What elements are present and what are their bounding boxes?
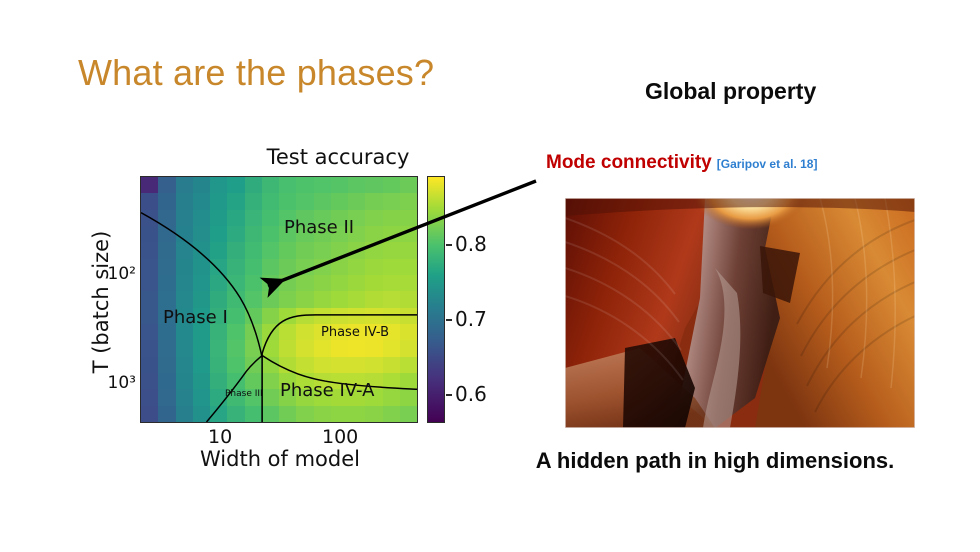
- heatmap-cell: [210, 340, 227, 356]
- heatmap-cell: [141, 226, 158, 242]
- heatmap-cell: [279, 324, 296, 340]
- heatmap-cell: [383, 177, 400, 193]
- heatmap-cell: [383, 259, 400, 275]
- heatmap-cell: [296, 406, 313, 422]
- heatmap-cell: [365, 291, 382, 307]
- heatmap-cell: [365, 357, 382, 373]
- colorbar: 0.8 0.7 0.6: [427, 176, 445, 423]
- region-label-phase-3: Phase III: [225, 389, 263, 399]
- heatmap-cell: [400, 210, 417, 226]
- heatmap-cell: [227, 242, 244, 258]
- heatmap-cell: [296, 340, 313, 356]
- heatmap-cell: [348, 308, 365, 324]
- heatmap-cell: [158, 242, 175, 258]
- heatmap-cell: [227, 193, 244, 209]
- heatmap-cell: [296, 308, 313, 324]
- heatmap-cell: [245, 226, 262, 242]
- heatmap-cell: [296, 242, 313, 258]
- heatmap-cell: [365, 226, 382, 242]
- heatmap-cell: [245, 357, 262, 373]
- citation-reference: [Garipov et al. 18]: [717, 157, 818, 171]
- heatmap-cell: [262, 357, 279, 373]
- heatmap-cell: [245, 291, 262, 307]
- global-property-heading: Global property: [645, 78, 816, 105]
- heatmap-cell: [210, 259, 227, 275]
- heatmap-cell: [262, 373, 279, 389]
- heatmap-cell: [176, 406, 193, 422]
- heatmap-cell: [227, 291, 244, 307]
- heatmap-cell: [262, 177, 279, 193]
- x-tick-100: 100: [322, 426, 358, 448]
- heatmap-cell: [176, 193, 193, 209]
- mode-connectivity-label: Mode connectivity: [546, 152, 712, 173]
- heatmap-cell: [331, 406, 348, 422]
- heatmap-cell: [400, 193, 417, 209]
- heatmap-cell: [262, 193, 279, 209]
- colorbar-gradient: [427, 176, 445, 423]
- heatmap-cell: [296, 177, 313, 193]
- heatmap-cell: [383, 291, 400, 307]
- heatmap-cell: [296, 193, 313, 209]
- colorbar-label-06: 0.6: [455, 382, 487, 406]
- heatmap-cell: [365, 340, 382, 356]
- page-title: What are the phases?: [78, 52, 434, 94]
- heatmap-cell: [176, 259, 193, 275]
- heatmap-cell: [314, 308, 331, 324]
- heatmap-cell: [141, 340, 158, 356]
- heatmap-cell: [227, 275, 244, 291]
- heatmap-cell: [296, 324, 313, 340]
- heatmap-cell: [210, 291, 227, 307]
- heatmap-cell: [400, 177, 417, 193]
- heatmap-cell: [245, 308, 262, 324]
- heatmap-cell: [279, 242, 296, 258]
- heatmap-cell: [141, 210, 158, 226]
- heatmap-cell: [227, 406, 244, 422]
- heatmap-cell: [400, 389, 417, 405]
- heatmap-cell: [262, 210, 279, 226]
- heatmap-cell: [141, 389, 158, 405]
- heatmap-cell: [227, 324, 244, 340]
- heatmap-cells: [141, 177, 417, 422]
- colorbar-label-08: 0.8: [455, 232, 487, 256]
- heatmap-cell: [279, 308, 296, 324]
- canyon-photo-art: [565, 198, 915, 428]
- heatmap-cell: [193, 177, 210, 193]
- heatmap-cell: [400, 291, 417, 307]
- heatmap-cell: [141, 324, 158, 340]
- heatmap-cell: [193, 291, 210, 307]
- heatmap-cell: [176, 275, 193, 291]
- heatmap-cell: [348, 357, 365, 373]
- heatmap-cell: [279, 259, 296, 275]
- heatmap-cell: [176, 177, 193, 193]
- heatmap-cell: [141, 406, 158, 422]
- heatmap-cell: [365, 193, 382, 209]
- heatmap-cell: [262, 242, 279, 258]
- heatmap-cell: [400, 373, 417, 389]
- colorbar-tick-08: [446, 244, 452, 246]
- heatmap-cell: [383, 226, 400, 242]
- colorbar-tick-07: [446, 319, 452, 321]
- heatmap-cell: [193, 275, 210, 291]
- heatmap-cell: [141, 357, 158, 373]
- colorbar-label-07: 0.7: [455, 307, 487, 331]
- heatmap-cell: [365, 242, 382, 258]
- heatmap-cell: [383, 389, 400, 405]
- x-axis-label: Width of model: [140, 447, 420, 471]
- heatmap-cell: [158, 177, 175, 193]
- heatmap-cell: [348, 340, 365, 356]
- heatmap-cell: [158, 275, 175, 291]
- heatmap-cell: [245, 259, 262, 275]
- heatmap-cell: [262, 275, 279, 291]
- heatmap-cell: [279, 177, 296, 193]
- heatmap-cell: [279, 193, 296, 209]
- heatmap-cell: [141, 291, 158, 307]
- heatmap-cell: [158, 226, 175, 242]
- heatmap-cell: [314, 291, 331, 307]
- heatmap-cell: [176, 340, 193, 356]
- heatmap-cell: [227, 210, 244, 226]
- heatmap-cell: [227, 357, 244, 373]
- heatmap-cell: [400, 340, 417, 356]
- heatmap-cell: [176, 291, 193, 307]
- heatmap-cell: [158, 259, 175, 275]
- heatmap-cell: [296, 357, 313, 373]
- heatmap-cell: [279, 406, 296, 422]
- heatmap-cell: [331, 275, 348, 291]
- heatmap-cell: [331, 242, 348, 258]
- heatmap-cell: [245, 177, 262, 193]
- heatmap-cell: [365, 275, 382, 291]
- heatmap-cell: [348, 406, 365, 422]
- heatmap-cell: [176, 357, 193, 373]
- heatmap-cell: [383, 340, 400, 356]
- heatmap-cell: [262, 389, 279, 405]
- heatmap-cell: [158, 373, 175, 389]
- heatmap-cell: [158, 340, 175, 356]
- heatmap-cell: [141, 242, 158, 258]
- heatmap-cell: [296, 291, 313, 307]
- heatmap-cell: [400, 357, 417, 373]
- heatmap-cell: [383, 357, 400, 373]
- heatmap-cell: [314, 406, 331, 422]
- heatmap-cell: [331, 357, 348, 373]
- heatmap-cell: [314, 177, 331, 193]
- heatmap-cell: [227, 259, 244, 275]
- heatmap-cell: [245, 324, 262, 340]
- heatmap-cell: [245, 275, 262, 291]
- heatmap-cell: [158, 357, 175, 373]
- heatmap-cell: [400, 275, 417, 291]
- heatmap-cell: [262, 226, 279, 242]
- heatmap-cell: [314, 242, 331, 258]
- heatmap-cell: [262, 308, 279, 324]
- heatmap-cell: [262, 406, 279, 422]
- heatmap-cell: [348, 291, 365, 307]
- heatmap-cell: [141, 275, 158, 291]
- heatmap-cell: [348, 275, 365, 291]
- heatmap-cell: [262, 324, 279, 340]
- heatmap-cell: [176, 226, 193, 242]
- heatmap-cell: [296, 275, 313, 291]
- heatmap-cell: [279, 291, 296, 307]
- region-label-phase-4a: Phase IV-A: [280, 380, 374, 401]
- heatmap-cell: [331, 259, 348, 275]
- heatmap-cell: [314, 275, 331, 291]
- heatmap-cell: [262, 291, 279, 307]
- heatmap-cell: [158, 406, 175, 422]
- y-tick-1000: 10³: [108, 373, 136, 393]
- heatmap-cell: [383, 406, 400, 422]
- heatmap-cell: [193, 389, 210, 405]
- heatmap-cell: [245, 242, 262, 258]
- heatmap-cell: [193, 226, 210, 242]
- heatmap-cell: [210, 210, 227, 226]
- heatmap-cell: [331, 177, 348, 193]
- heatmap-cell: [383, 193, 400, 209]
- heatmap-cell: [141, 193, 158, 209]
- heatmap-cell: [400, 259, 417, 275]
- colorbar-tick-06: [446, 394, 452, 396]
- heatmap-cell: [400, 242, 417, 258]
- heatmap-cell: [158, 210, 175, 226]
- heatmap-cell: [400, 324, 417, 340]
- heatmap-cell: [210, 226, 227, 242]
- heatmap-cell: [158, 193, 175, 209]
- heatmap-cell: [245, 193, 262, 209]
- heatmap-cell: [227, 226, 244, 242]
- heatmap-cell: [158, 291, 175, 307]
- heatmap-cell: [348, 177, 365, 193]
- heatmap-cell: [193, 242, 210, 258]
- heatmap-cell: [245, 373, 262, 389]
- heatmap-cell: [210, 177, 227, 193]
- heatmap-cell: [193, 193, 210, 209]
- heatmap-cell: [262, 259, 279, 275]
- y-tick-100: 10²: [108, 264, 136, 284]
- heatmap-cell: [365, 210, 382, 226]
- x-tick-10: 10: [208, 426, 232, 448]
- heatmap-cell: [348, 242, 365, 258]
- heatmap-cell: [227, 340, 244, 356]
- heatmap-cell: [400, 308, 417, 324]
- heatmap-cell: [245, 340, 262, 356]
- heatmap-cell: [193, 406, 210, 422]
- heatmap-cell: [158, 389, 175, 405]
- slide-canvas: What are the phases? Test accuracy T (ba…: [0, 0, 980, 552]
- heatmap-cell: [176, 242, 193, 258]
- heatmap-cell: [210, 242, 227, 258]
- heatmap-cell: [176, 389, 193, 405]
- heatmap-cell: [141, 259, 158, 275]
- heatmap-cell: [348, 193, 365, 209]
- heatmap-cell: [210, 275, 227, 291]
- heatmap-cell: [176, 373, 193, 389]
- heatmap-cell: [262, 340, 279, 356]
- region-label-phase-2: Phase II: [284, 217, 354, 238]
- slot-canyon-photo: [565, 198, 915, 428]
- heatmap-cell: [193, 357, 210, 373]
- y-axis-ticks: 10² 10³: [78, 176, 136, 423]
- heatmap-cell: [365, 259, 382, 275]
- heatmap-cell: [193, 373, 210, 389]
- heatmap-cell: [210, 357, 227, 373]
- heatmap-cell: [365, 177, 382, 193]
- heatmap-cell: [141, 177, 158, 193]
- heatmap-cell: [365, 308, 382, 324]
- heatmap-cell: [176, 210, 193, 226]
- heatmap-cell: [331, 308, 348, 324]
- heatmap-cell: [314, 340, 331, 356]
- heatmap-cell: [245, 210, 262, 226]
- heatmap-cell: [314, 193, 331, 209]
- heatmap-cell: [383, 373, 400, 389]
- heatmap-cell: [210, 373, 227, 389]
- heatmap-cell: [400, 406, 417, 422]
- heatmap-cell: [296, 259, 313, 275]
- heatmap-cell: [193, 210, 210, 226]
- heatmap-cell: [348, 259, 365, 275]
- heatmap-cell: [383, 308, 400, 324]
- heatmap-cell: [227, 308, 244, 324]
- heatmap-cell: [245, 406, 262, 422]
- heatmap-cell: [383, 242, 400, 258]
- heatmap-cell: [331, 193, 348, 209]
- slide-caption: A hidden path in high dimensions.: [450, 448, 980, 474]
- mode-connectivity-line: Mode connectivity[Garipov et al. 18]: [546, 152, 817, 174]
- region-label-phase-4b: Phase IV-B: [321, 325, 389, 340]
- region-label-phase-1: Phase I: [163, 307, 228, 328]
- heatmap-cell: [279, 275, 296, 291]
- heatmap-cell: [141, 373, 158, 389]
- heatmap-cell: [227, 177, 244, 193]
- heatmap-cell: [210, 406, 227, 422]
- heatmap-cell: [210, 193, 227, 209]
- heatmap-cell: [227, 373, 244, 389]
- heatmap-cell: [193, 340, 210, 356]
- chart-title: Test accuracy: [198, 145, 478, 169]
- heatmap-cell: [383, 275, 400, 291]
- heatmap-cell: [314, 357, 331, 373]
- heatmap-cell: [279, 357, 296, 373]
- heatmap-cell: [331, 340, 348, 356]
- heatmap-plot-area: Phase I Phase II Phase III Phase IV-A Ph…: [140, 176, 418, 423]
- heatmap-cell: [331, 291, 348, 307]
- heatmap-cell: [400, 226, 417, 242]
- heatmap-cell: [141, 308, 158, 324]
- phase-diagram-figure: Test accuracy T (batch size) Width of mo…: [58, 140, 538, 500]
- heatmap-cell: [383, 210, 400, 226]
- heatmap-cell: [365, 406, 382, 422]
- heatmap-cell: [279, 340, 296, 356]
- x-axis-ticks: 10 100: [140, 426, 418, 450]
- heatmap-cell: [314, 259, 331, 275]
- heatmap-cell: [193, 259, 210, 275]
